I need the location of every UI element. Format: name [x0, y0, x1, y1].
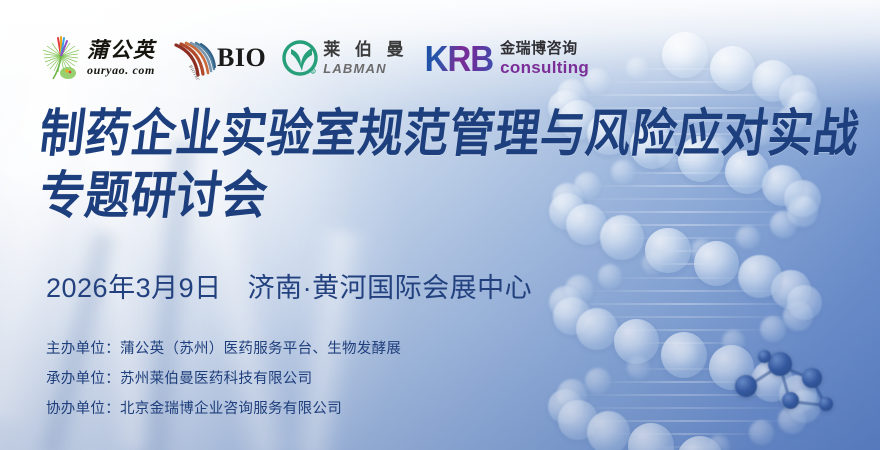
event-date: 2026年3月9日	[46, 266, 222, 305]
organizer-value-undertaker: 苏州莱伯曼医药科技有限公司	[120, 371, 312, 387]
logo-labman-en: LABMAN	[323, 62, 408, 75]
organizer-list: 主办单位：蒲公英（苏州）医药服务平台、生物发酵展 承办单位：苏州莱伯曼医药科技有…	[46, 334, 401, 424]
logo-ouryao-cn: 蒲公英	[87, 40, 156, 61]
event-venue: 济南·黄河国际会展中心	[248, 266, 533, 305]
logo-krb-word: KRB	[425, 40, 494, 76]
organizer-label-undertaker: 承办单位：	[46, 371, 120, 387]
title-line-1: 制药企业实验室规范管理与风险应对实战	[36, 104, 853, 163]
logo-bio-word: BIO	[217, 43, 266, 73]
title-line-2: 专题研讨会	[36, 166, 853, 225]
organizer-label-host: 主办单位：	[46, 341, 120, 357]
molecule-cluster-graphic	[728, 334, 858, 424]
bio-arcs-icon: BIOTECH	[172, 36, 216, 80]
organizer-row-undertaker: 承办单位：苏州莱伯曼医药科技有限公司	[46, 364, 401, 394]
organizer-row-host: 主办单位：蒲公英（苏州）医药服务平台、生物发酵展	[46, 334, 401, 364]
logo-ouryao-en: ouryao. com	[87, 64, 156, 76]
logo-labman-cn: 莱 伯 曼	[323, 41, 408, 58]
leaf-circle-icon: R	[282, 40, 318, 76]
logo-krb-cn: 金瑞博咨询	[500, 41, 589, 56]
organizer-value-host: 蒲公英（苏州）医药服务平台、生物发酵展	[120, 341, 401, 357]
logo-krb-en: consulting	[500, 59, 589, 76]
logo-labman[interactable]: R 莱 伯 曼 LABMAN	[282, 40, 408, 76]
organizer-row-coorganizer: 协办单位：北京金瑞博企业咨询服务有限公司	[46, 394, 401, 424]
dandelion-icon	[38, 33, 84, 83]
page-title: 制药企业实验室规范管理与风险应对实战 专题研讨会	[40, 108, 850, 222]
logo-ouryao[interactable]: 蒲公英 ouryao. com	[38, 33, 156, 83]
conference-banner: 蒲公英 ouryao. com BIOTECH	[0, 0, 880, 450]
event-meta: 2026年3月9日 济南·黄河国际会展中心	[46, 266, 532, 305]
logo-krb[interactable]: KRB 金瑞博咨询 consulting	[425, 41, 589, 76]
logo-bio[interactable]: BIOTECH BIO	[172, 34, 266, 82]
sponsor-logo-strip: 蒲公英 ouryao. com BIOTECH	[38, 30, 589, 86]
organizer-label-coorganizer: 协办单位：	[46, 401, 120, 417]
organizer-value-coorganizer: 北京金瑞博企业咨询服务有限公司	[120, 401, 342, 417]
